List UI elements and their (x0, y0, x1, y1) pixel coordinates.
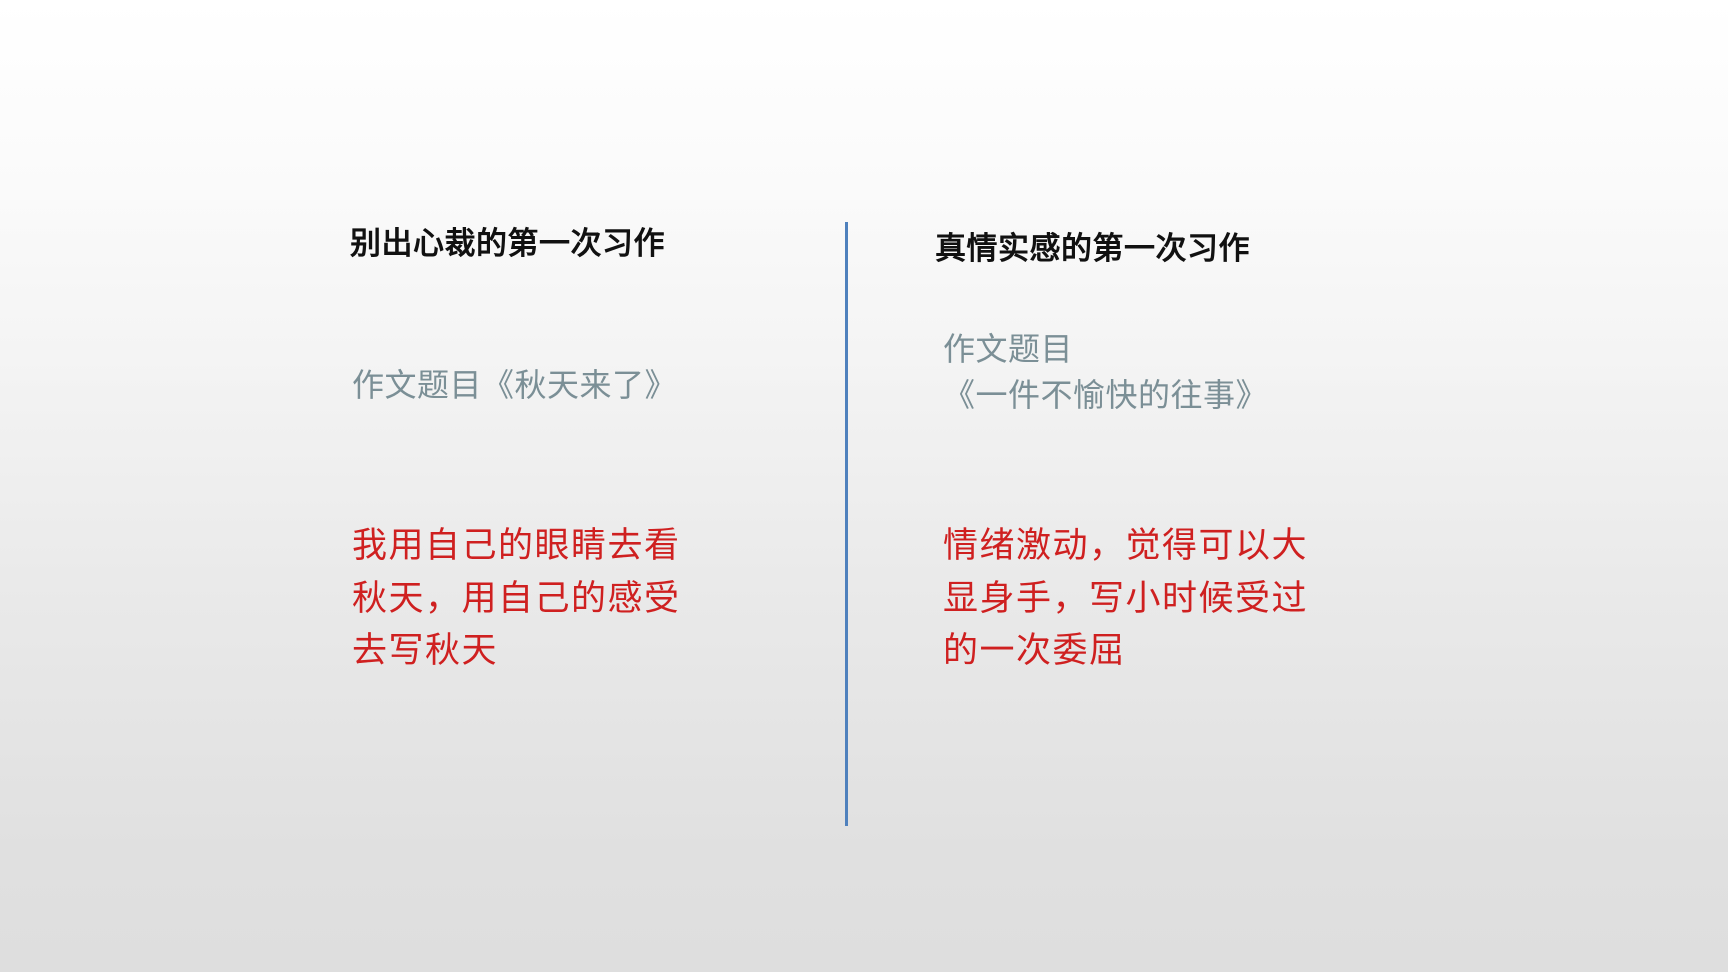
comparison-columns: 别出心裁的第一次习作 作文题目《秋天来了》 我用自己的眼睛去看 秋天，用自己的感… (0, 0, 1728, 972)
column-left-title: 别出心裁的第一次习作 (350, 225, 665, 262)
column-left-body: 我用自己的眼睛去看 秋天，用自己的感受 去写秋天 (352, 520, 772, 678)
column-right: 真情实感的第一次习作 作文题目 《一件不愉快的往事》 情绪激动，觉得可以大 显身… (925, 0, 1485, 972)
slide-canvas: 别出心裁的第一次习作 作文题目《秋天来了》 我用自己的眼睛去看 秋天，用自己的感… (0, 0, 1728, 972)
column-right-subtitle: 作文题目 《一件不愉快的往事》 (943, 326, 1268, 419)
column-divider (845, 222, 848, 826)
column-right-title: 真情实感的第一次习作 (935, 230, 1250, 267)
column-left-subtitle: 作文题目《秋天来了》 (352, 362, 677, 408)
column-left: 别出心裁的第一次习作 作文题目《秋天来了》 我用自己的眼睛去看 秋天，用自己的感… (330, 0, 830, 972)
column-right-body: 情绪激动，觉得可以大 显身手，写小时候受过 的一次委屈 (943, 520, 1413, 678)
